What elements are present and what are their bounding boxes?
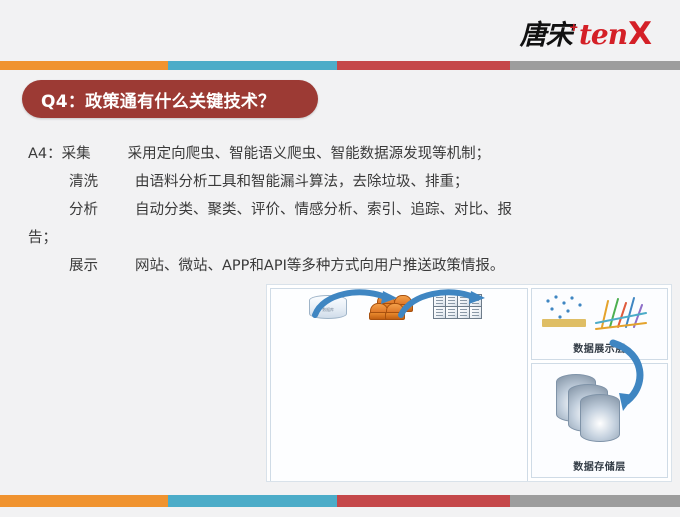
accent-segment-teal	[168, 495, 337, 507]
answer-lead: A4：	[28, 140, 62, 168]
answer-line: 清洗由语料分析工具和智能漏斗算法，去除垃圾、排重；	[28, 168, 658, 196]
answer-line: A4：采集采用定向爬虫、智能语义爬虫、智能数据源发现等机制；	[28, 140, 658, 168]
question-title: Q4：政策通有什么关键技术？	[22, 87, 275, 112]
answer-step-label: 告；	[28, 230, 57, 246]
data-visualization-icon	[538, 293, 650, 333]
top-accent-bar	[0, 61, 680, 70]
accent-segment-red	[337, 495, 510, 507]
answer-step-label: 展示	[69, 252, 135, 280]
answer-body: A4：采集采用定向爬虫、智能语义爬虫、智能数据源发现等机制； 清洗由语料分析工具…	[28, 140, 658, 280]
answer-step-label: 采集	[62, 140, 128, 168]
answer-line: 分析自动分类、聚类、评价、情感分析、索引、追踪、对比、报	[28, 196, 658, 224]
logo-ten-text: ten	[579, 21, 627, 49]
logo-chinese-text: 唐宋	[520, 22, 572, 49]
accent-segment-gray	[510, 61, 680, 70]
accent-segment-teal	[168, 61, 337, 70]
answer-step-label: 分析	[69, 196, 135, 224]
layer-content: 数据库	[301, 289, 527, 482]
diagram-left-stack: 应用层 数据库	[270, 288, 528, 478]
diagram-layer-application: 应用层 数据库	[270, 288, 528, 482]
answer-step-text: 采用定向爬虫、智能语义爬虫、智能数据源发现等机制；	[128, 146, 491, 162]
accent-segment-gray	[510, 495, 680, 507]
feedback-arrow-icon	[597, 337, 667, 417]
bottom-accent-bar	[0, 495, 680, 507]
answer-line: 告；	[28, 224, 658, 252]
brand-logo: 唐宋 + ten X	[520, 19, 652, 50]
panel-label: 数据存储层	[573, 458, 626, 473]
flow-arrow-icon	[301, 285, 527, 319]
answer-line: 展示网站、微站、APP和API等多种方式向用户推送政策情报。	[28, 252, 658, 280]
layer-label: 应用层	[271, 289, 301, 482]
accent-segment-orange	[0, 61, 168, 70]
answer-step-text: 自动分类、聚类、评价、情感分析、索引、追踪、对比、报	[135, 202, 512, 218]
architecture-diagram: 应用层 数据库	[266, 284, 672, 482]
accent-segment-orange	[0, 495, 168, 507]
answer-step-text: 由语料分析工具和智能漏斗算法，去除垃圾、排重；	[135, 174, 469, 190]
answer-step-text: 网站、微站、APP和API等多种方式向用户推送政策情报。	[135, 258, 504, 274]
answer-step-label: 清洗	[69, 168, 135, 196]
logo-plus-icon: +	[570, 20, 578, 34]
question-banner: Q4：政策通有什么关键技术？	[22, 80, 318, 118]
logo-x-text: X	[628, 19, 652, 50]
accent-segment-red	[337, 61, 510, 70]
